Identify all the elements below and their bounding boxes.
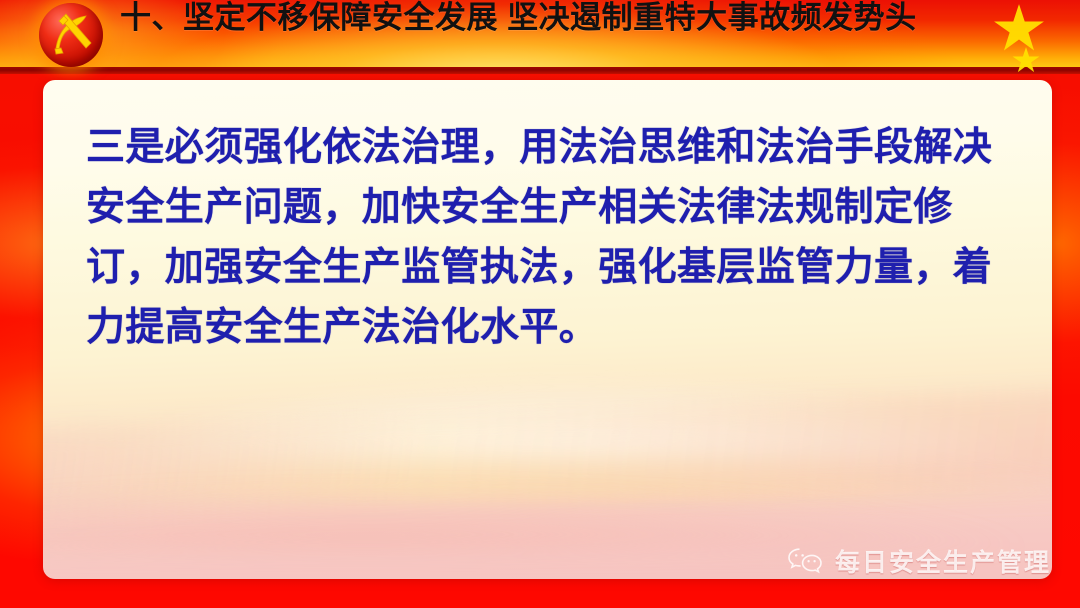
party-emblem-hammer-sickle-icon	[39, 3, 103, 67]
header-divider-rule	[0, 67, 1080, 74]
wechat-icon	[786, 546, 826, 576]
star-icon	[1012, 47, 1040, 74]
panel-cloud-band	[43, 440, 1052, 550]
watermark-label: 每日安全生产管理	[835, 543, 1051, 579]
slide-root: 十、坚定不移保障安全发展 坚决遏制重特大事故频发势头 三是必须强化依法治理，用法…	[0, 0, 1080, 608]
panel-cloud-band	[43, 380, 1052, 500]
content-panel: 三是必须强化依法治理，用法治思维和法治手段解决安全生产问题，加快安全生产相关法律…	[43, 80, 1052, 579]
watermark: 每日安全生产管理	[786, 543, 1051, 579]
body-paragraph: 三是必须强化依法治理，用法治思维和法治手段解决安全生产问题，加快安全生产相关法律…	[86, 118, 1026, 358]
page-title: 十、坚定不移保障安全发展 坚决遏制重特大事故频发势头	[120, 0, 1000, 38]
panel-cloud-band	[43, 387, 1052, 523]
